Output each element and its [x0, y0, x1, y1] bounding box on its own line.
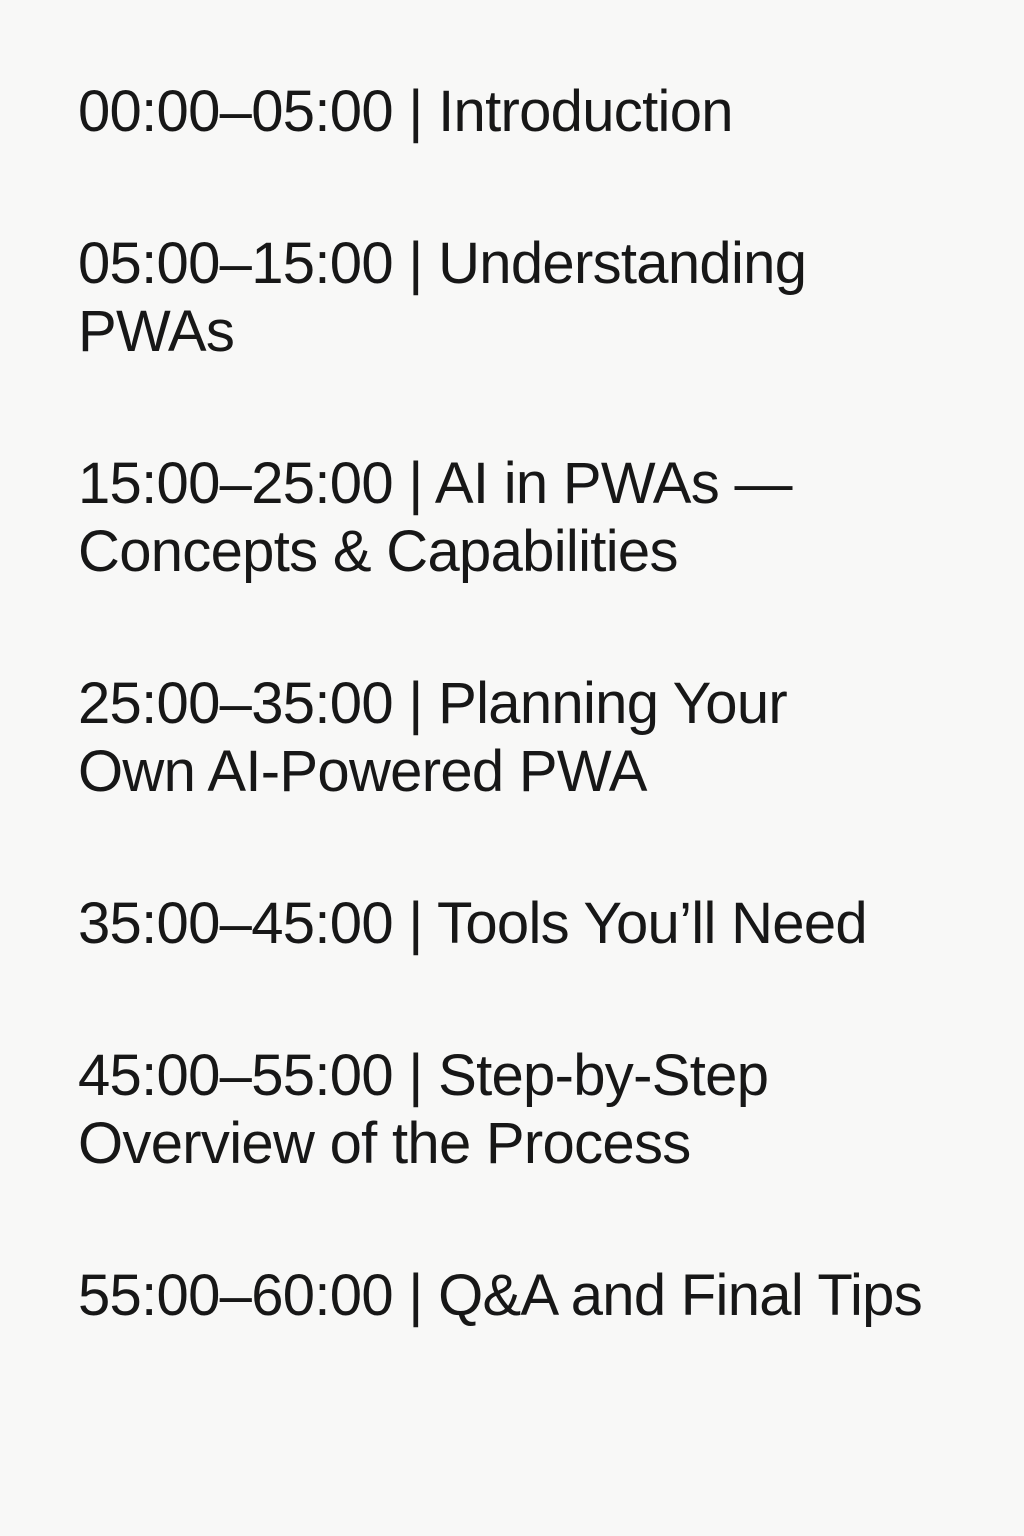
timestamp-item: 00:00–05:00 | Introduction: [78, 78, 980, 146]
timestamp-item: 55:00–60:00 | Q&A and Final Tips: [78, 1262, 980, 1330]
timestamp-item: 05:00–15:00 | Understanding PWAs: [78, 230, 980, 366]
timestamp-list: 00:00–05:00 | Introduction 05:00–15:00 |…: [78, 78, 980, 1330]
timestamp-item: 15:00–25:00 | AI in PWAs — Concepts & Ca…: [78, 450, 980, 586]
agenda-page: 00:00–05:00 | Introduction 05:00–15:00 |…: [0, 0, 1024, 1536]
timestamp-item: 25:00–35:00 | Planning Your Own AI-Power…: [78, 670, 980, 806]
timestamp-item: 45:00–55:00 | Step-by-Step Overview of t…: [78, 1042, 980, 1178]
timestamp-item: 35:00–45:00 | Tools You’ll Need: [78, 890, 980, 958]
